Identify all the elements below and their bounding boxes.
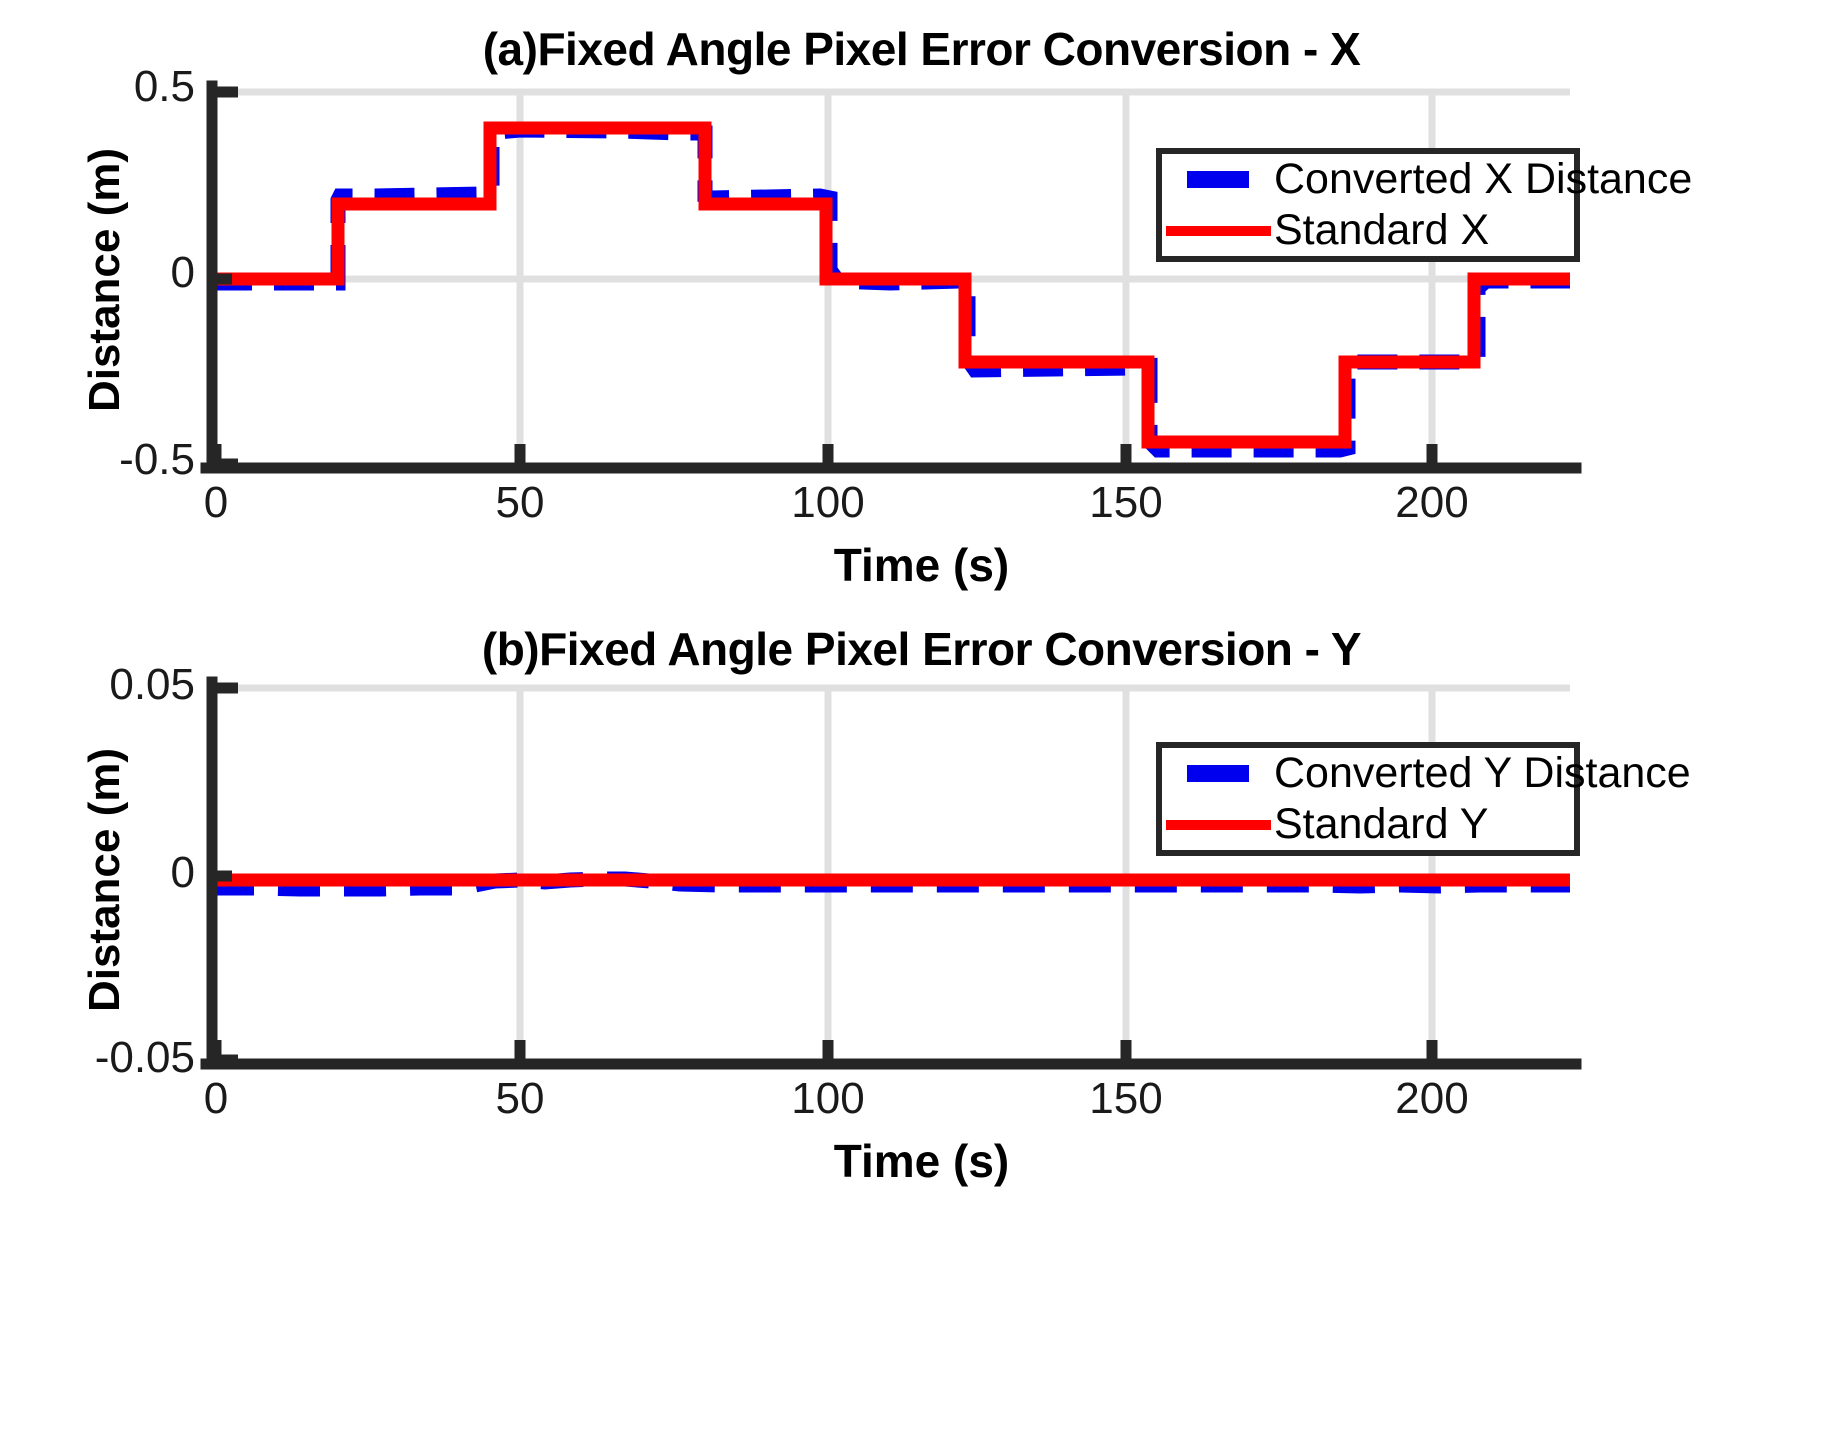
figure-root: (a)Fixed Angle Pixel Error Conversion - … — [0, 0, 1843, 1451]
subplot-b-plot-area — [0, 600, 1843, 1160]
legend-swatch-red-solid-icon — [1162, 820, 1274, 830]
subplot-a-legend-label-standard: Standard X — [1274, 206, 1489, 255]
subplot-b-xtick-2: 100 — [755, 1074, 901, 1124]
subplot-a-xtick-2: 100 — [755, 478, 901, 528]
subplot-a-xtick-4: 200 — [1359, 478, 1505, 528]
subplot-a-xlabel: Time (s) — [0, 538, 1843, 592]
subplot-a-xtick-0: 0 — [156, 478, 276, 528]
subplot-b-legend-label-converted: Converted Y Distance — [1274, 749, 1691, 798]
subplot-a-legend-label-converted: Converted X Distance — [1274, 155, 1692, 204]
subplot-a-legend-item-standard[interactable]: Standard X — [1162, 205, 1574, 256]
subplot-a-legend-item-converted[interactable]: Converted X Distance — [1162, 154, 1574, 205]
subplot-a-xtick-1: 50 — [460, 478, 580, 528]
subplot-b-legend-item-converted[interactable]: Converted Y Distance — [1162, 748, 1574, 799]
subplot-b-xtick-0: 0 — [156, 1074, 276, 1124]
subplot-b-legend[interactable]: Converted Y Distance Standard Y — [1156, 742, 1580, 856]
subplot-b-xtick-1: 50 — [460, 1074, 580, 1124]
subplot-b-legend-item-standard[interactable]: Standard Y — [1162, 799, 1574, 850]
subplot-a-fixed-angle-x: (a)Fixed Angle Pixel Error Conversion - … — [0, 0, 1843, 620]
legend-swatch-blue-dashed-icon — [1162, 171, 1274, 188]
subplot-b-legend-label-standard: Standard Y — [1274, 800, 1488, 849]
subplot-b-xtick-4: 200 — [1359, 1074, 1505, 1124]
subplot-a-plot-area — [0, 0, 1843, 620]
subplot-b-xtick-3: 150 — [1053, 1074, 1199, 1124]
subplot-b-fixed-angle-y: (b)Fixed Angle Pixel Error Conversion - … — [0, 600, 1843, 1451]
subplot-b-xlabel: Time (s) — [0, 1134, 1843, 1188]
subplot-a-xtick-3: 150 — [1053, 478, 1199, 528]
legend-swatch-blue-dashed-icon — [1162, 765, 1274, 782]
subplot-a-legend[interactable]: Converted X Distance Standard X — [1156, 148, 1580, 262]
legend-swatch-red-solid-icon — [1162, 226, 1274, 236]
